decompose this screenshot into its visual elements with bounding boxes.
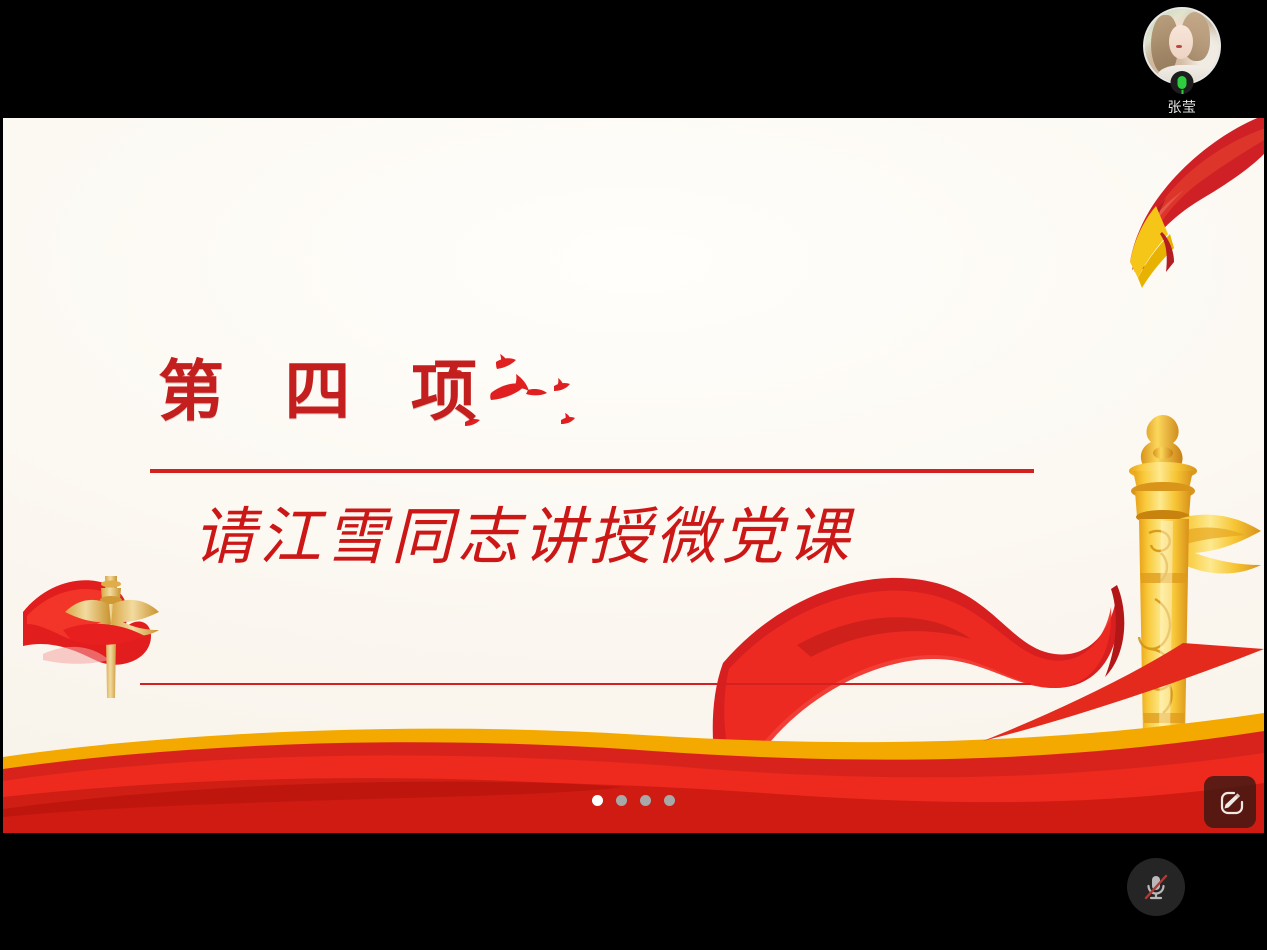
divider-top — [150, 469, 1034, 473]
annotate-pen-icon — [1215, 787, 1245, 817]
mic-active-icon — [1171, 71, 1194, 94]
slide-stage[interactable]: 第 四 项 请江雪同志讲授微党课 — [3, 118, 1264, 833]
divider-bottom — [140, 683, 1031, 685]
annotate-button[interactable] — [1204, 776, 1256, 828]
meeting-screen: 张莹 — [0, 0, 1267, 950]
participant-tile[interactable]: 张莹 — [1122, 4, 1242, 116]
avatar-lips — [1176, 45, 1182, 49]
avatar-wrapper — [1143, 7, 1221, 85]
red-silk-waves-icon — [3, 545, 1264, 833]
participant-strip: 张莹 — [0, 0, 1267, 118]
pagination-dot-2[interactable] — [616, 795, 627, 806]
bottom-toolbar — [0, 833, 1267, 950]
pagination-dot-4[interactable] — [664, 795, 675, 806]
mic-mute-button[interactable] — [1127, 858, 1185, 916]
pagination-dot-3[interactable] — [640, 795, 651, 806]
mic-muted-icon — [1139, 870, 1173, 904]
red-ribbon-swoosh-icon — [1034, 118, 1264, 312]
slide-title: 第 四 项 — [158, 354, 499, 432]
pagination-dot-1[interactable] — [592, 795, 603, 806]
mic-capsule-shape — [1178, 76, 1187, 89]
slide-pagination — [3, 795, 1264, 806]
slide-subtitle: 请江雪同志讲授微党课 — [153, 490, 893, 586]
participant-name-label: 张莹 — [1168, 98, 1197, 116]
